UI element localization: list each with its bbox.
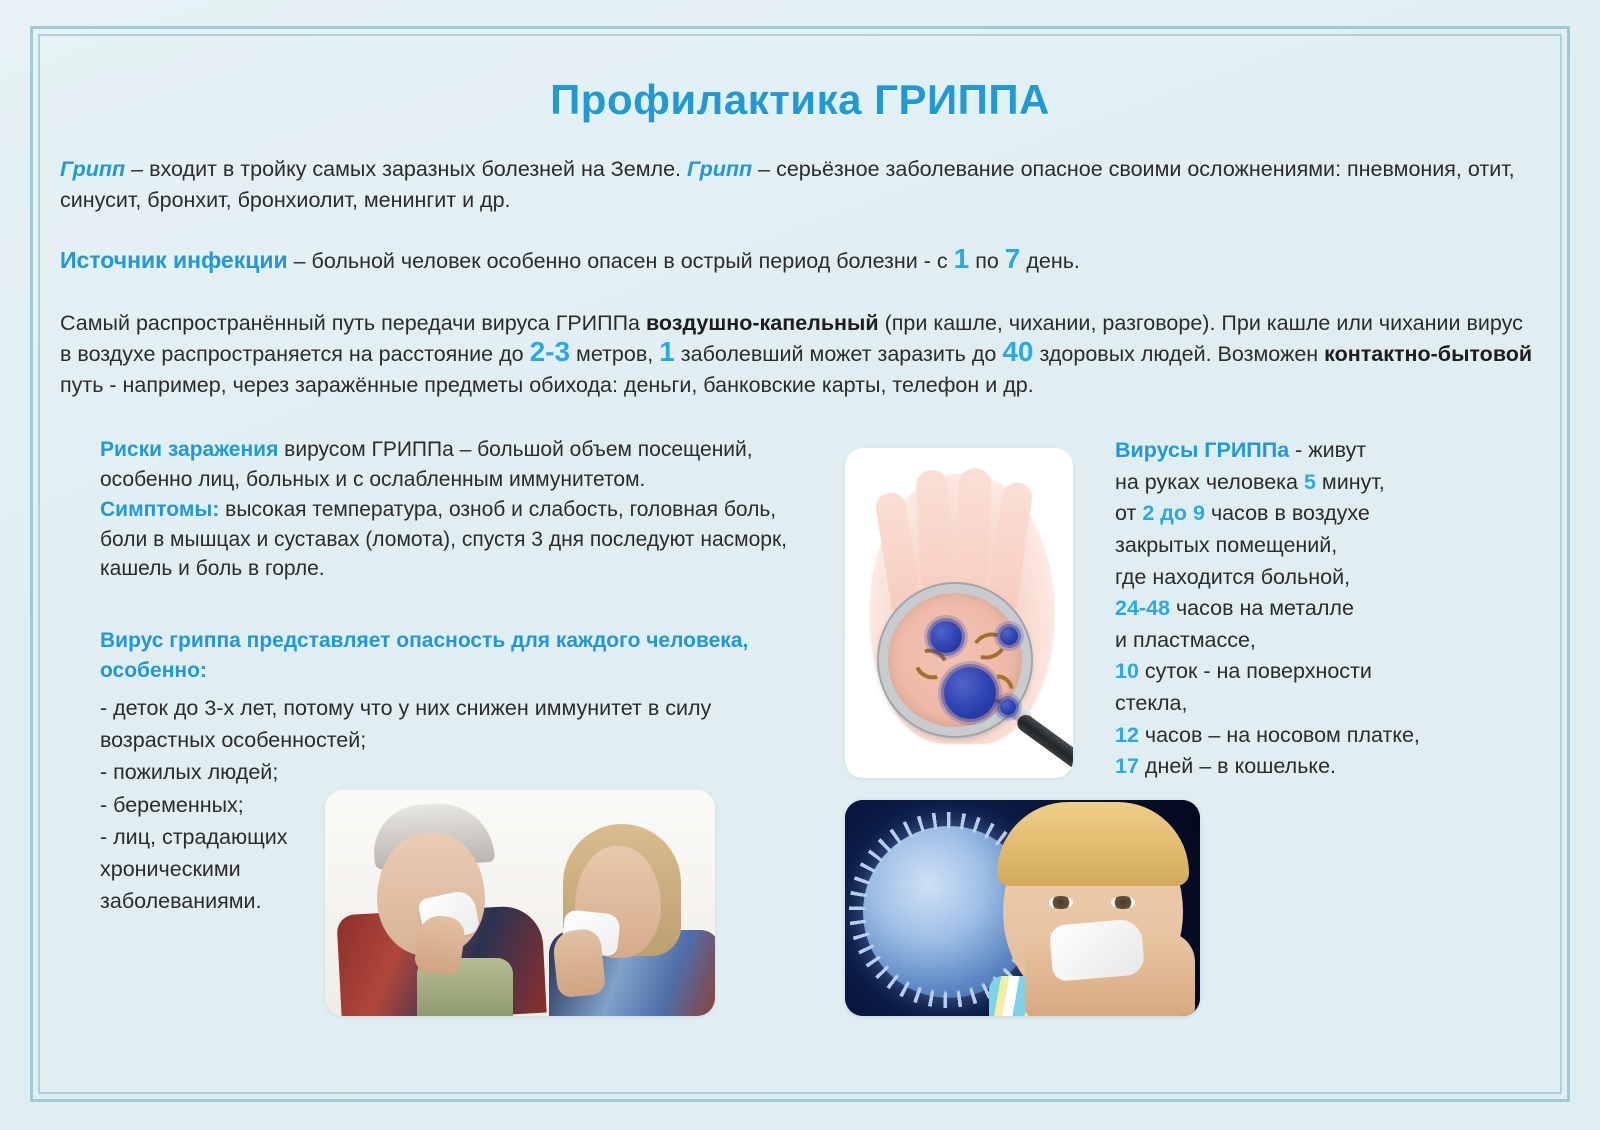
survival-line-7: 10 суток - на поверхности: [1115, 656, 1505, 688]
survival-pre-2: от: [1115, 501, 1142, 525]
transmission-contact-term: контактно-бытовой: [1324, 342, 1532, 366]
symptoms-heading: Симптомы:: [100, 498, 219, 521]
right-column: Вирусы ГРИППа - живут на руках человека …: [1115, 435, 1505, 783]
tissue-icon: [1049, 918, 1146, 982]
survival-post-9: часов – на носовом платке,: [1139, 723, 1420, 747]
term-grippe-1: Грипп: [60, 157, 125, 181]
source-number-first-day: 1: [954, 243, 970, 274]
survival-line-4: где находится больной,: [1115, 562, 1505, 594]
source-text-2: по: [969, 249, 1005, 273]
source-text-3: день.: [1020, 249, 1080, 273]
survival-line-6: и пластмассе,: [1115, 625, 1505, 657]
survival-post-1: минут,: [1316, 470, 1385, 494]
boy-eye: [1049, 896, 1073, 909]
survival-pre-1: на руках человека: [1115, 470, 1304, 494]
transmission-text-3: метров,: [570, 342, 659, 366]
poster-content: Профилактика ГРИППА Грипп – входит в тро…: [52, 50, 1548, 1080]
hand-magnifier-image: [845, 448, 1073, 778]
boy-eye: [1111, 896, 1135, 909]
danger-heading-line2: особенно:: [100, 656, 790, 686]
magnifier-handle: [1014, 712, 1073, 772]
survival-line-0: Вирусы ГРИППа - живут: [1115, 435, 1505, 467]
survival-heading: Вирусы ГРИППа: [1115, 438, 1289, 462]
virus-particle-icon: [930, 621, 962, 653]
transmission-infect-count: 40: [1002, 336, 1033, 367]
virus-particle-icon: [1000, 699, 1016, 715]
survival-line-10: 17 дней – в кошельке.: [1115, 751, 1505, 783]
list-item: - деток до 3-х лет, потому что у них сни…: [100, 692, 740, 757]
source-heading: Источник инфекции: [60, 247, 288, 273]
transmission-distance-meters: 2-3: [530, 336, 570, 367]
elderly-couple-image: [325, 790, 715, 1016]
transmission-text-6: путь - например, через заражённые предме…: [60, 373, 1034, 397]
columns-section: Риски заражения вирусом ГРИППа – большой…: [52, 435, 1548, 1055]
danger-heading-line1: Вирус гриппа представляет опасность для …: [100, 626, 790, 656]
term-grippe-2: Грипп: [687, 157, 752, 181]
source-number-last-day: 7: [1005, 243, 1021, 274]
survival-post-2: часов в воздухе: [1205, 501, 1370, 525]
risks-heading: Риски заражения: [100, 438, 278, 461]
survival-num-2: 2 до 9: [1142, 501, 1205, 525]
survival-line-2: от 2 до 9 часов в воздухе: [1115, 498, 1505, 530]
survival-post-10: дней – в кошельке.: [1139, 754, 1336, 778]
survival-line-1: на руках человека 5 минут,: [1115, 467, 1505, 499]
survival-num-1: 5: [1304, 470, 1316, 494]
transmission-one-sick: 1: [659, 336, 675, 367]
page-title: Профилактика ГРИППА: [52, 76, 1548, 124]
survival-num-5: 24-48: [1115, 596, 1170, 620]
poster-root: Профилактика ГРИППА Грипп – входит в тро…: [0, 0, 1600, 1130]
woman-hand: [552, 928, 607, 999]
magnifier-lens: [879, 584, 1031, 736]
survival-num-10: 17: [1115, 754, 1139, 778]
virus-particle-icon: [944, 667, 996, 719]
transmission-airborne-term: воздушно-капельный: [646, 311, 879, 335]
risks-block: Риски заражения вирусом ГРИППа – большой…: [100, 435, 790, 584]
survival-post-7: суток - на поверхности: [1139, 659, 1372, 683]
survival-line-8: стекла,: [1115, 688, 1505, 720]
survival-post-5: часов на металле: [1170, 596, 1354, 620]
source-text-1: – больной человек особенно опасен в остр…: [288, 249, 954, 273]
intro-text-1: – входит в тройку самых заразных болезне…: [125, 157, 687, 181]
transmission-text-4: заболевший может заразить до: [675, 342, 1003, 366]
transmission-text-1: Самый распространённый путь передачи вир…: [60, 311, 646, 335]
transmission-paragraph: Самый распространённый путь передачи вир…: [60, 308, 1540, 402]
intro-paragraph: Грипп – входит в тройку самых заразных б…: [60, 154, 1540, 216]
survival-line-5: 24-48 часов на металле: [1115, 593, 1505, 625]
survival-line-3: закрытых помещений,: [1115, 530, 1505, 562]
survival-post-0: - живут: [1289, 438, 1366, 462]
survival-num-9: 12: [1115, 723, 1139, 747]
virus-particle-icon: [1000, 627, 1018, 645]
survival-line-9: 12 часов – на носовом платке,: [1115, 720, 1505, 752]
source-paragraph: Источник инфекции – больной человек особ…: [60, 244, 1540, 277]
child-virus-image: [845, 800, 1200, 1016]
list-item: - пожилых людей;: [100, 756, 740, 788]
transmission-text-5: здоровых людей. Возможен: [1034, 342, 1325, 366]
survival-num-7: 10: [1115, 659, 1139, 683]
